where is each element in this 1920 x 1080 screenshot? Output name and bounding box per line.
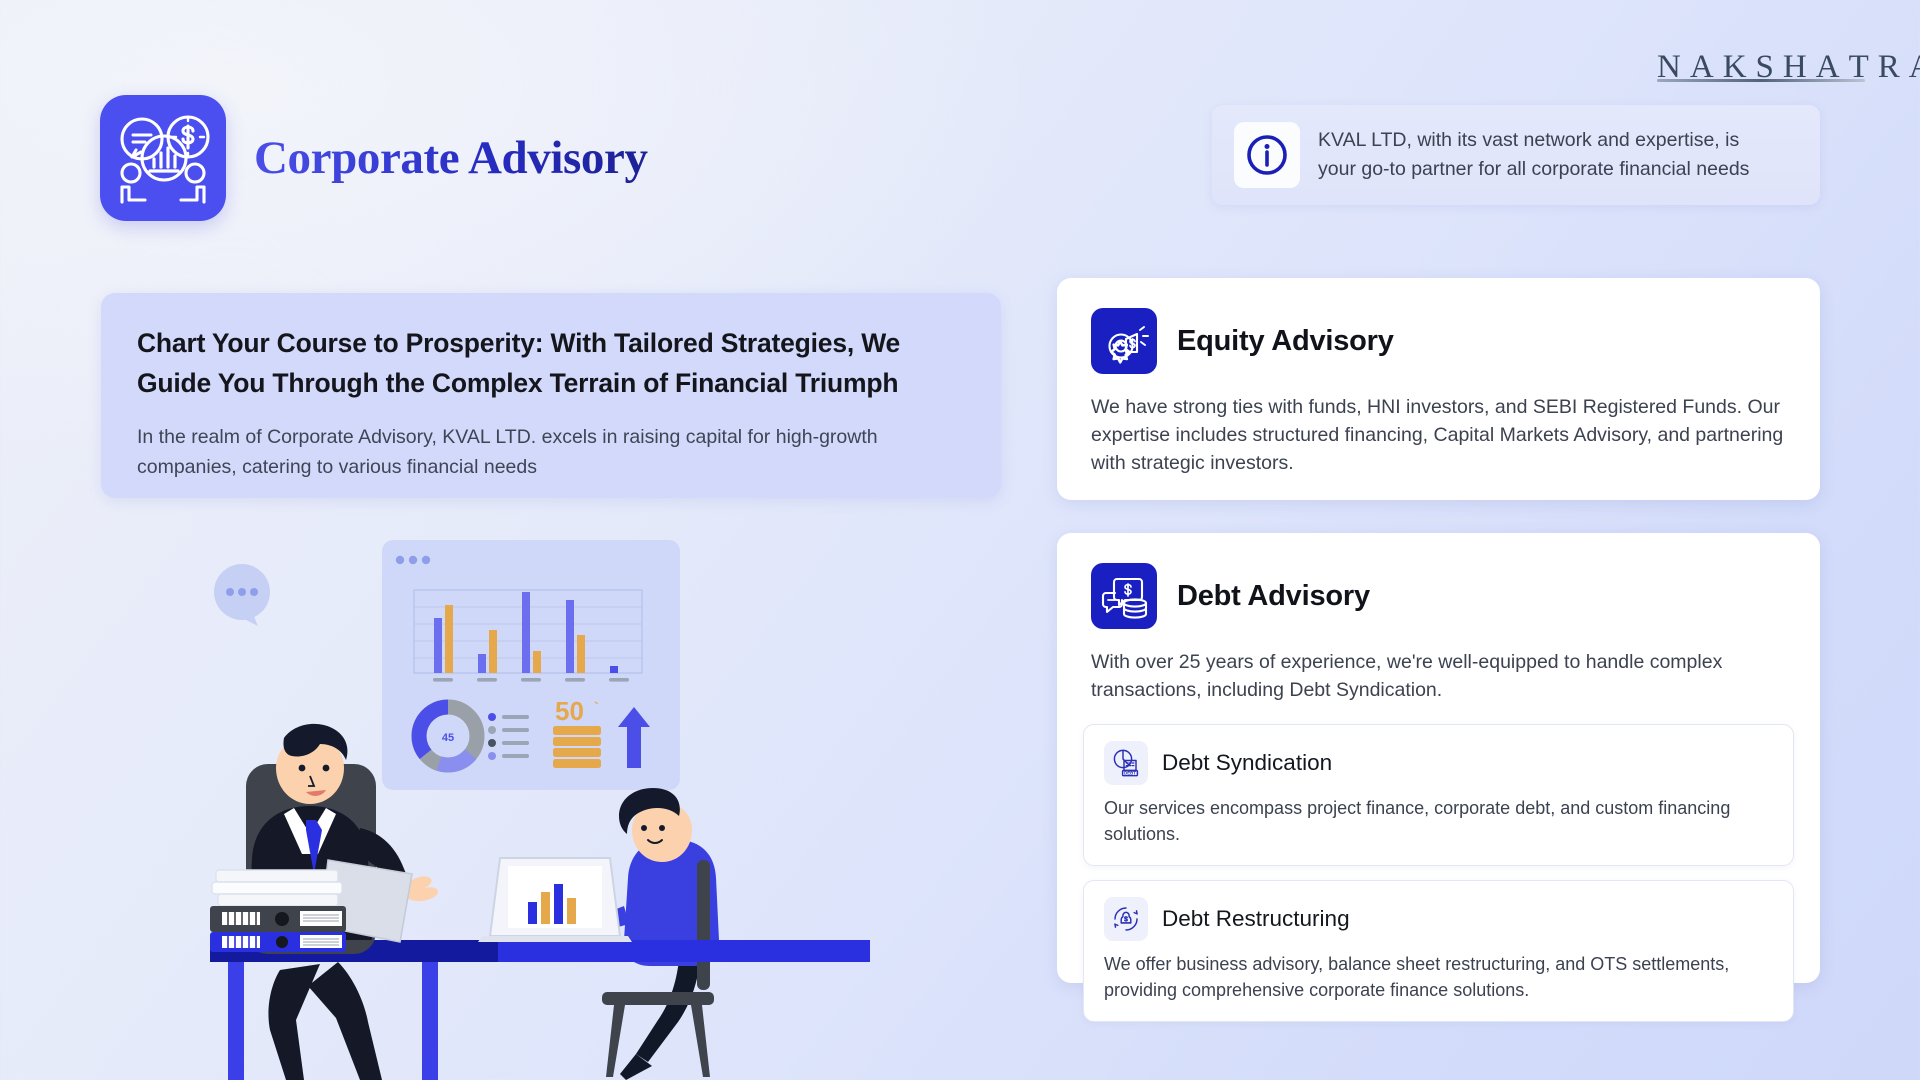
sub-service-description: We offer business advisory, balance shee… (1104, 951, 1773, 1003)
headline-subtitle: In the realm of Corporate Advisory, KVAL… (137, 422, 965, 482)
sub-service-card-debt-restructuring[interactable]: Debt Restructuring We offer business adv… (1083, 880, 1794, 1022)
gear-pie-dollar-icon (1091, 308, 1157, 374)
binder (210, 906, 346, 932)
dashboard-screen: 45 50 ` (382, 540, 680, 790)
chat-dollar-coins-icon (1091, 563, 1157, 629)
info-banner-text: KVAL LTD, with its vast network and expe… (1318, 126, 1749, 184)
desk (210, 940, 870, 1080)
svg-text:`: ` (594, 699, 599, 715)
sub-service-title: Debt Syndication (1162, 750, 1332, 776)
service-title: Debt Advisory (1177, 580, 1370, 613)
service-card-header: Debt Advisory (1091, 563, 1794, 629)
corporate-advisory-icon (100, 95, 226, 221)
svg-text:DEBT: DEBT (1124, 771, 1136, 776)
info-banner: KVAL LTD, with its vast network and expe… (1212, 105, 1820, 205)
service-card-header: Equity Advisory (1091, 308, 1786, 374)
info-banner-line-1: KVAL LTD, with its vast network and expe… (1318, 126, 1749, 155)
service-card-debt-advisory[interactable]: Debt Advisory With over 25 years of expe… (1057, 533, 1820, 983)
page-title: Corporate Advisory (254, 131, 648, 185)
binder (210, 932, 346, 952)
svg-text:50: 50 (555, 696, 584, 726)
service-card-equity-advisory[interactable]: Equity Advisory We have strong ties with… (1057, 278, 1820, 500)
brand-logo: N A K S H A T R A (1657, 44, 1920, 84)
service-title: Equity Advisory (1177, 325, 1394, 358)
laptop (478, 858, 632, 942)
sub-service-title: Debt Restructuring (1162, 906, 1350, 932)
info-banner-line-2: your go-to partner for all corporate fin… (1318, 155, 1749, 184)
svg-text:45: 45 (442, 732, 454, 744)
info-circle-icon (1234, 122, 1300, 188)
sub-service-header: Debt Restructuring (1104, 897, 1773, 941)
service-description: With over 25 years of experience, we're … (1091, 648, 1794, 704)
brand-letter: R (1878, 51, 1900, 84)
sub-service-card-debt-syndication[interactable]: DEBT Debt Syndication Our services encom… (1083, 724, 1794, 866)
headline-card: Chart Your Course to Prosperity: With Ta… (101, 293, 1001, 498)
money-bell-restructure-icon (1104, 897, 1148, 941)
speech-bubble (214, 564, 270, 626)
page-header: Corporate Advisory (100, 95, 648, 221)
sub-service-description: Our services encompass project finance, … (1104, 795, 1773, 847)
pie-building-debt-icon: DEBT (1104, 741, 1148, 785)
sub-service-header: DEBT Debt Syndication (1104, 741, 1773, 785)
brand-underline (1657, 79, 1865, 82)
headline-title: Chart Your Course to Prosperity: With Ta… (137, 323, 965, 403)
business-meeting-illustration: 45 50 ` (210, 540, 870, 1080)
service-description: We have strong ties with funds, HNI inve… (1091, 393, 1786, 477)
document-stack (210, 870, 346, 952)
brand-letter: A (1909, 51, 1920, 84)
